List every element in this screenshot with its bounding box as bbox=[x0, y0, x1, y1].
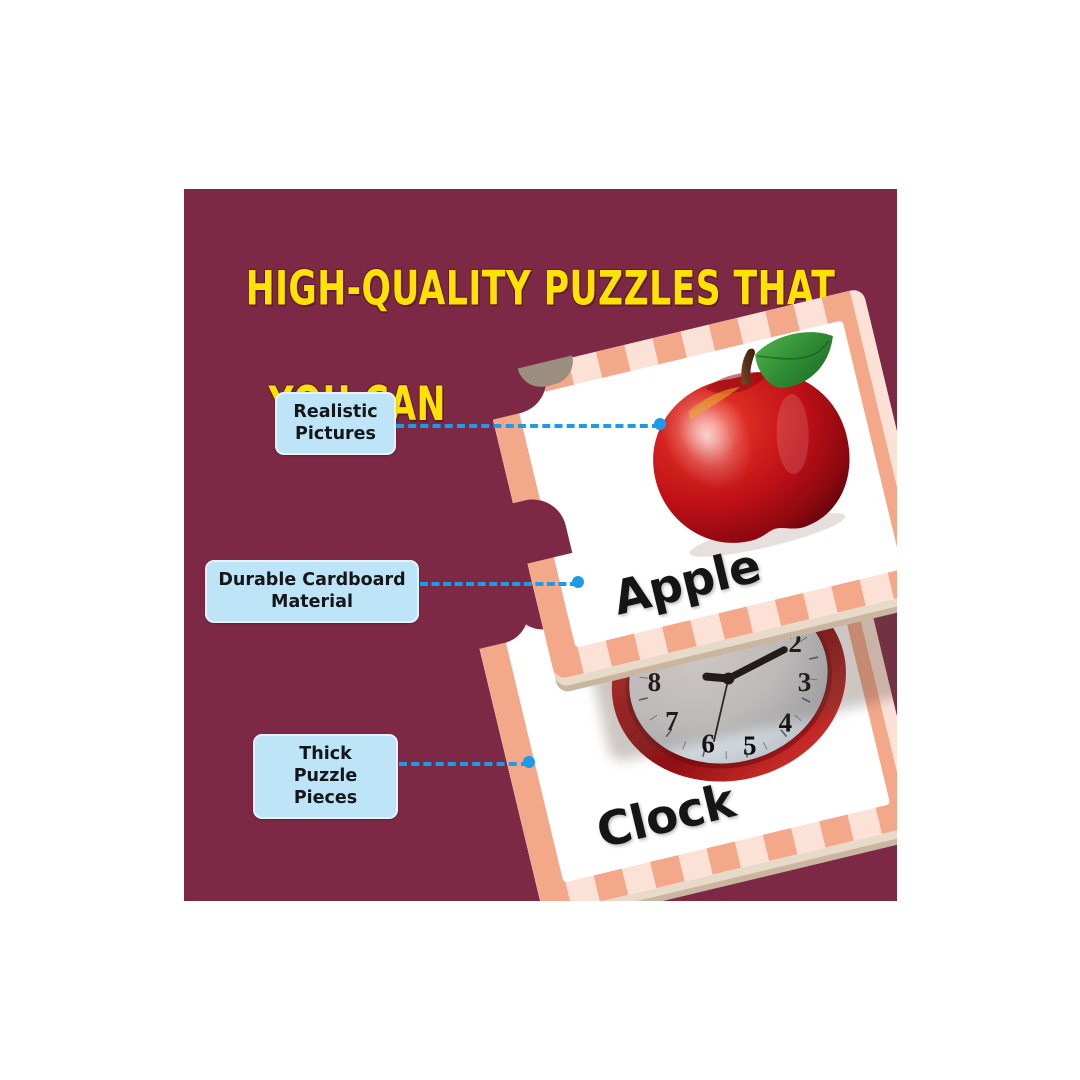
leader-dot-realistic bbox=[654, 418, 666, 430]
svg-text:5: 5 bbox=[743, 731, 757, 761]
feature-panel: HIGH-QUALITY PUZZLES THAT YOU CAN USE FO… bbox=[184, 189, 897, 901]
callout-thick-puzzle-pieces[interactable]: Thick Puzzle Pieces bbox=[253, 734, 398, 819]
leader-line-realistic bbox=[396, 424, 660, 428]
callout-durable-cardboard-material[interactable]: Durable Cardboard Material bbox=[205, 560, 419, 623]
leader-line-cardboard bbox=[420, 582, 578, 586]
leader-dot-cardboard bbox=[572, 576, 584, 588]
puzzle-card-apple[interactable]: Apple bbox=[483, 288, 897, 680]
leader-line-thick bbox=[399, 762, 529, 766]
image-canvas: HIGH-QUALITY PUZZLES THAT YOU CAN USE FO… bbox=[0, 0, 1080, 1080]
callout-realistic-pictures[interactable]: Realistic Pictures bbox=[275, 392, 396, 455]
leader-dot-thick bbox=[523, 756, 535, 768]
